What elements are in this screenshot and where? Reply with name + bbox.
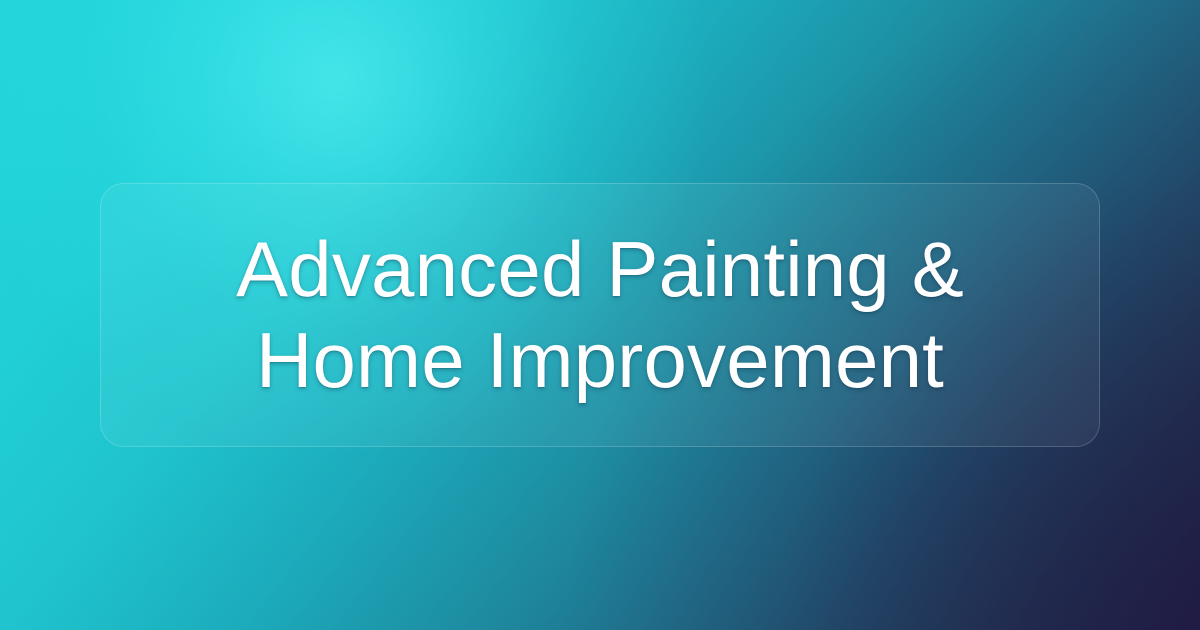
- hero-banner: Advanced Painting & Home Improvement: [0, 0, 1200, 630]
- title-card: Advanced Painting & Home Improvement: [100, 183, 1100, 447]
- page-title: Advanced Painting & Home Improvement: [141, 224, 1059, 406]
